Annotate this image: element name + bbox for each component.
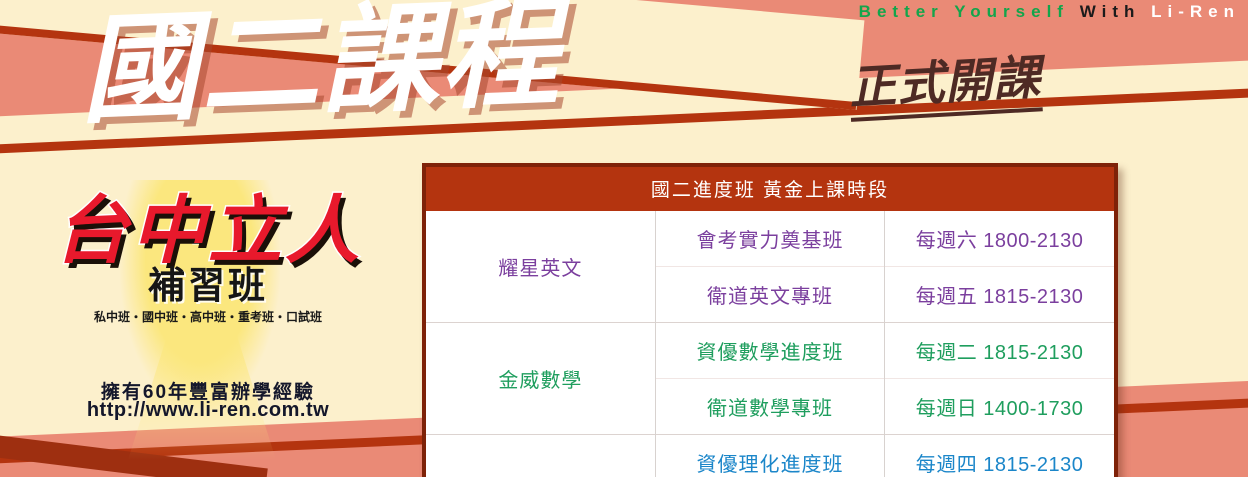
tagline-part-1: Better Yourself xyxy=(859,2,1069,21)
table-row: 金威數學資優數學進度班每週二 1815-2130 xyxy=(426,323,1114,379)
schedule-body: 耀星英文會考實力奠基班每週六 1800-2130衛道英文專班每週五 1815-2… xyxy=(426,211,1114,477)
brand-logo: 台中立人 補習班 私中班・國中班・高中班・重考班・口試班 xyxy=(28,196,388,325)
promo-banner: Better Yourself With Li-Ren 國二課程 正式開課 台中… xyxy=(0,0,1248,477)
course-time-cell: 每週六 1800-2130 xyxy=(885,211,1114,267)
course-name-cell: 資優數學進度班 xyxy=(655,323,884,379)
course-time-cell: 每週二 1815-2130 xyxy=(885,323,1114,379)
course-name-cell: 衛道英文專班 xyxy=(655,267,884,323)
course-time-cell: 每週日 1400-1730 xyxy=(885,379,1114,435)
course-time-cell: 每週四 1815-2130 xyxy=(885,435,1114,477)
course-name-cell: 會考實力奠基班 xyxy=(655,211,884,267)
subject-cell: 耀星英文 xyxy=(426,211,655,323)
page-title: 國二課程 xyxy=(78,0,562,132)
schedule-table: 國二進度班 黃金上課時段 耀星英文會考實力奠基班每週六 1800-2130衛道英… xyxy=(426,167,1114,477)
table-row: 楊過自然資優理化進度班每週四 1815-2130 xyxy=(426,435,1114,477)
tagline-part-3: Li-Ren xyxy=(1151,2,1240,21)
schedule-card: 國二進度班 黃金上課時段 耀星英文會考實力奠基班每週六 1800-2130衛道英… xyxy=(422,163,1118,477)
page-subtitle: 正式開課 xyxy=(848,55,1043,122)
course-name-cell: 衛道數學專班 xyxy=(655,379,884,435)
subject-cell: 楊過自然 xyxy=(426,435,655,477)
logo-class-tags: 私中班・國中班・高中班・重考班・口試班 xyxy=(28,308,388,325)
course-name-cell: 資優理化進度班 xyxy=(655,435,884,477)
website-url[interactable]: http://www.li-ren.com.tw xyxy=(28,399,388,422)
logo-brand-name: 台中立人 xyxy=(28,196,388,269)
table-row: 耀星英文會考實力奠基班每週六 1800-2130 xyxy=(426,211,1114,267)
course-time-cell: 每週五 1815-2130 xyxy=(885,267,1114,323)
tagline-part-2: With xyxy=(1080,2,1141,21)
subject-cell: 金威數學 xyxy=(426,323,655,435)
schedule-header: 國二進度班 黃金上課時段 xyxy=(426,167,1114,211)
